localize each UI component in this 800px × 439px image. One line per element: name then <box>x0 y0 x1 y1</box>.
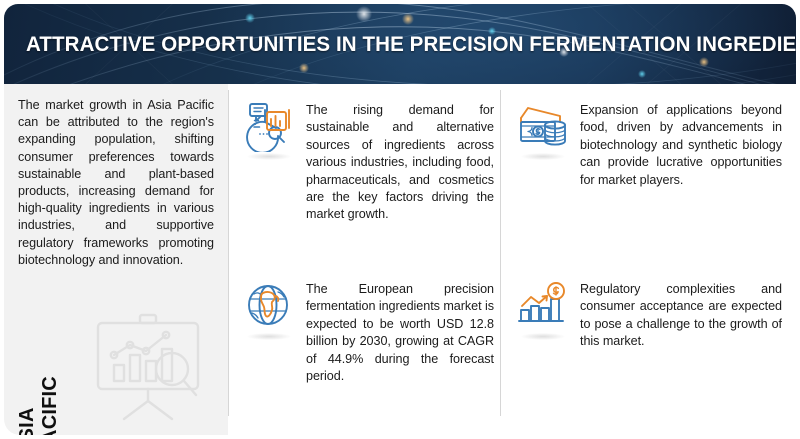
banknote-coins-money-icon <box>516 100 570 158</box>
insight-card-expansion-applications: Expansion of applications beyond food, d… <box>516 100 782 189</box>
region-panel-asia-pacific: The market growth in Asia Pacific can be… <box>4 84 228 435</box>
region-label: ASIA PACIFIC <box>16 336 62 435</box>
divider-left <box>228 90 229 416</box>
insight-text: Regulatory complexities and consumer acc… <box>580 280 782 351</box>
insight-text: The rising demand for sustainable and al… <box>306 100 494 224</box>
icon-shadow <box>247 153 291 160</box>
presentation-board-chart-magnifier-icon <box>84 307 212 427</box>
header-banner: ATTRACTIVE OPPORTUNITIES IN THE PRECISIO… <box>4 4 796 84</box>
globe-world-icon <box>242 280 296 338</box>
market-research-pie-bar-magnifier-icon <box>242 100 296 158</box>
insight-card-rising-demand: The rising demand for sustainable and al… <box>242 100 494 224</box>
icon-shadow <box>521 153 565 160</box>
divider-middle <box>500 90 501 416</box>
insight-text: The European precision fermentation ingr… <box>306 280 494 385</box>
region-paragraph: The market growth in Asia Pacific can be… <box>18 97 214 269</box>
icon-shadow <box>247 333 291 340</box>
insights-panel: The rising demand for sustainable and al… <box>228 84 796 435</box>
insight-card-europe-forecast: The European precision fermentation ingr… <box>242 280 494 385</box>
page-title: ATTRACTIVE OPPORTUNITIES IN THE PRECISIO… <box>26 4 752 84</box>
insight-text: Expansion of applications beyond food, d… <box>580 100 782 189</box>
bar-chart-growth-dollar-icon <box>516 280 570 338</box>
infographic-root: ATTRACTIVE OPPORTUNITIES IN THE PRECISIO… <box>0 0 800 439</box>
insight-card-regulatory-challenge: Regulatory complexities and consumer acc… <box>516 280 782 351</box>
icon-shadow <box>521 333 565 340</box>
body-content: The market growth in Asia Pacific can be… <box>4 84 796 435</box>
